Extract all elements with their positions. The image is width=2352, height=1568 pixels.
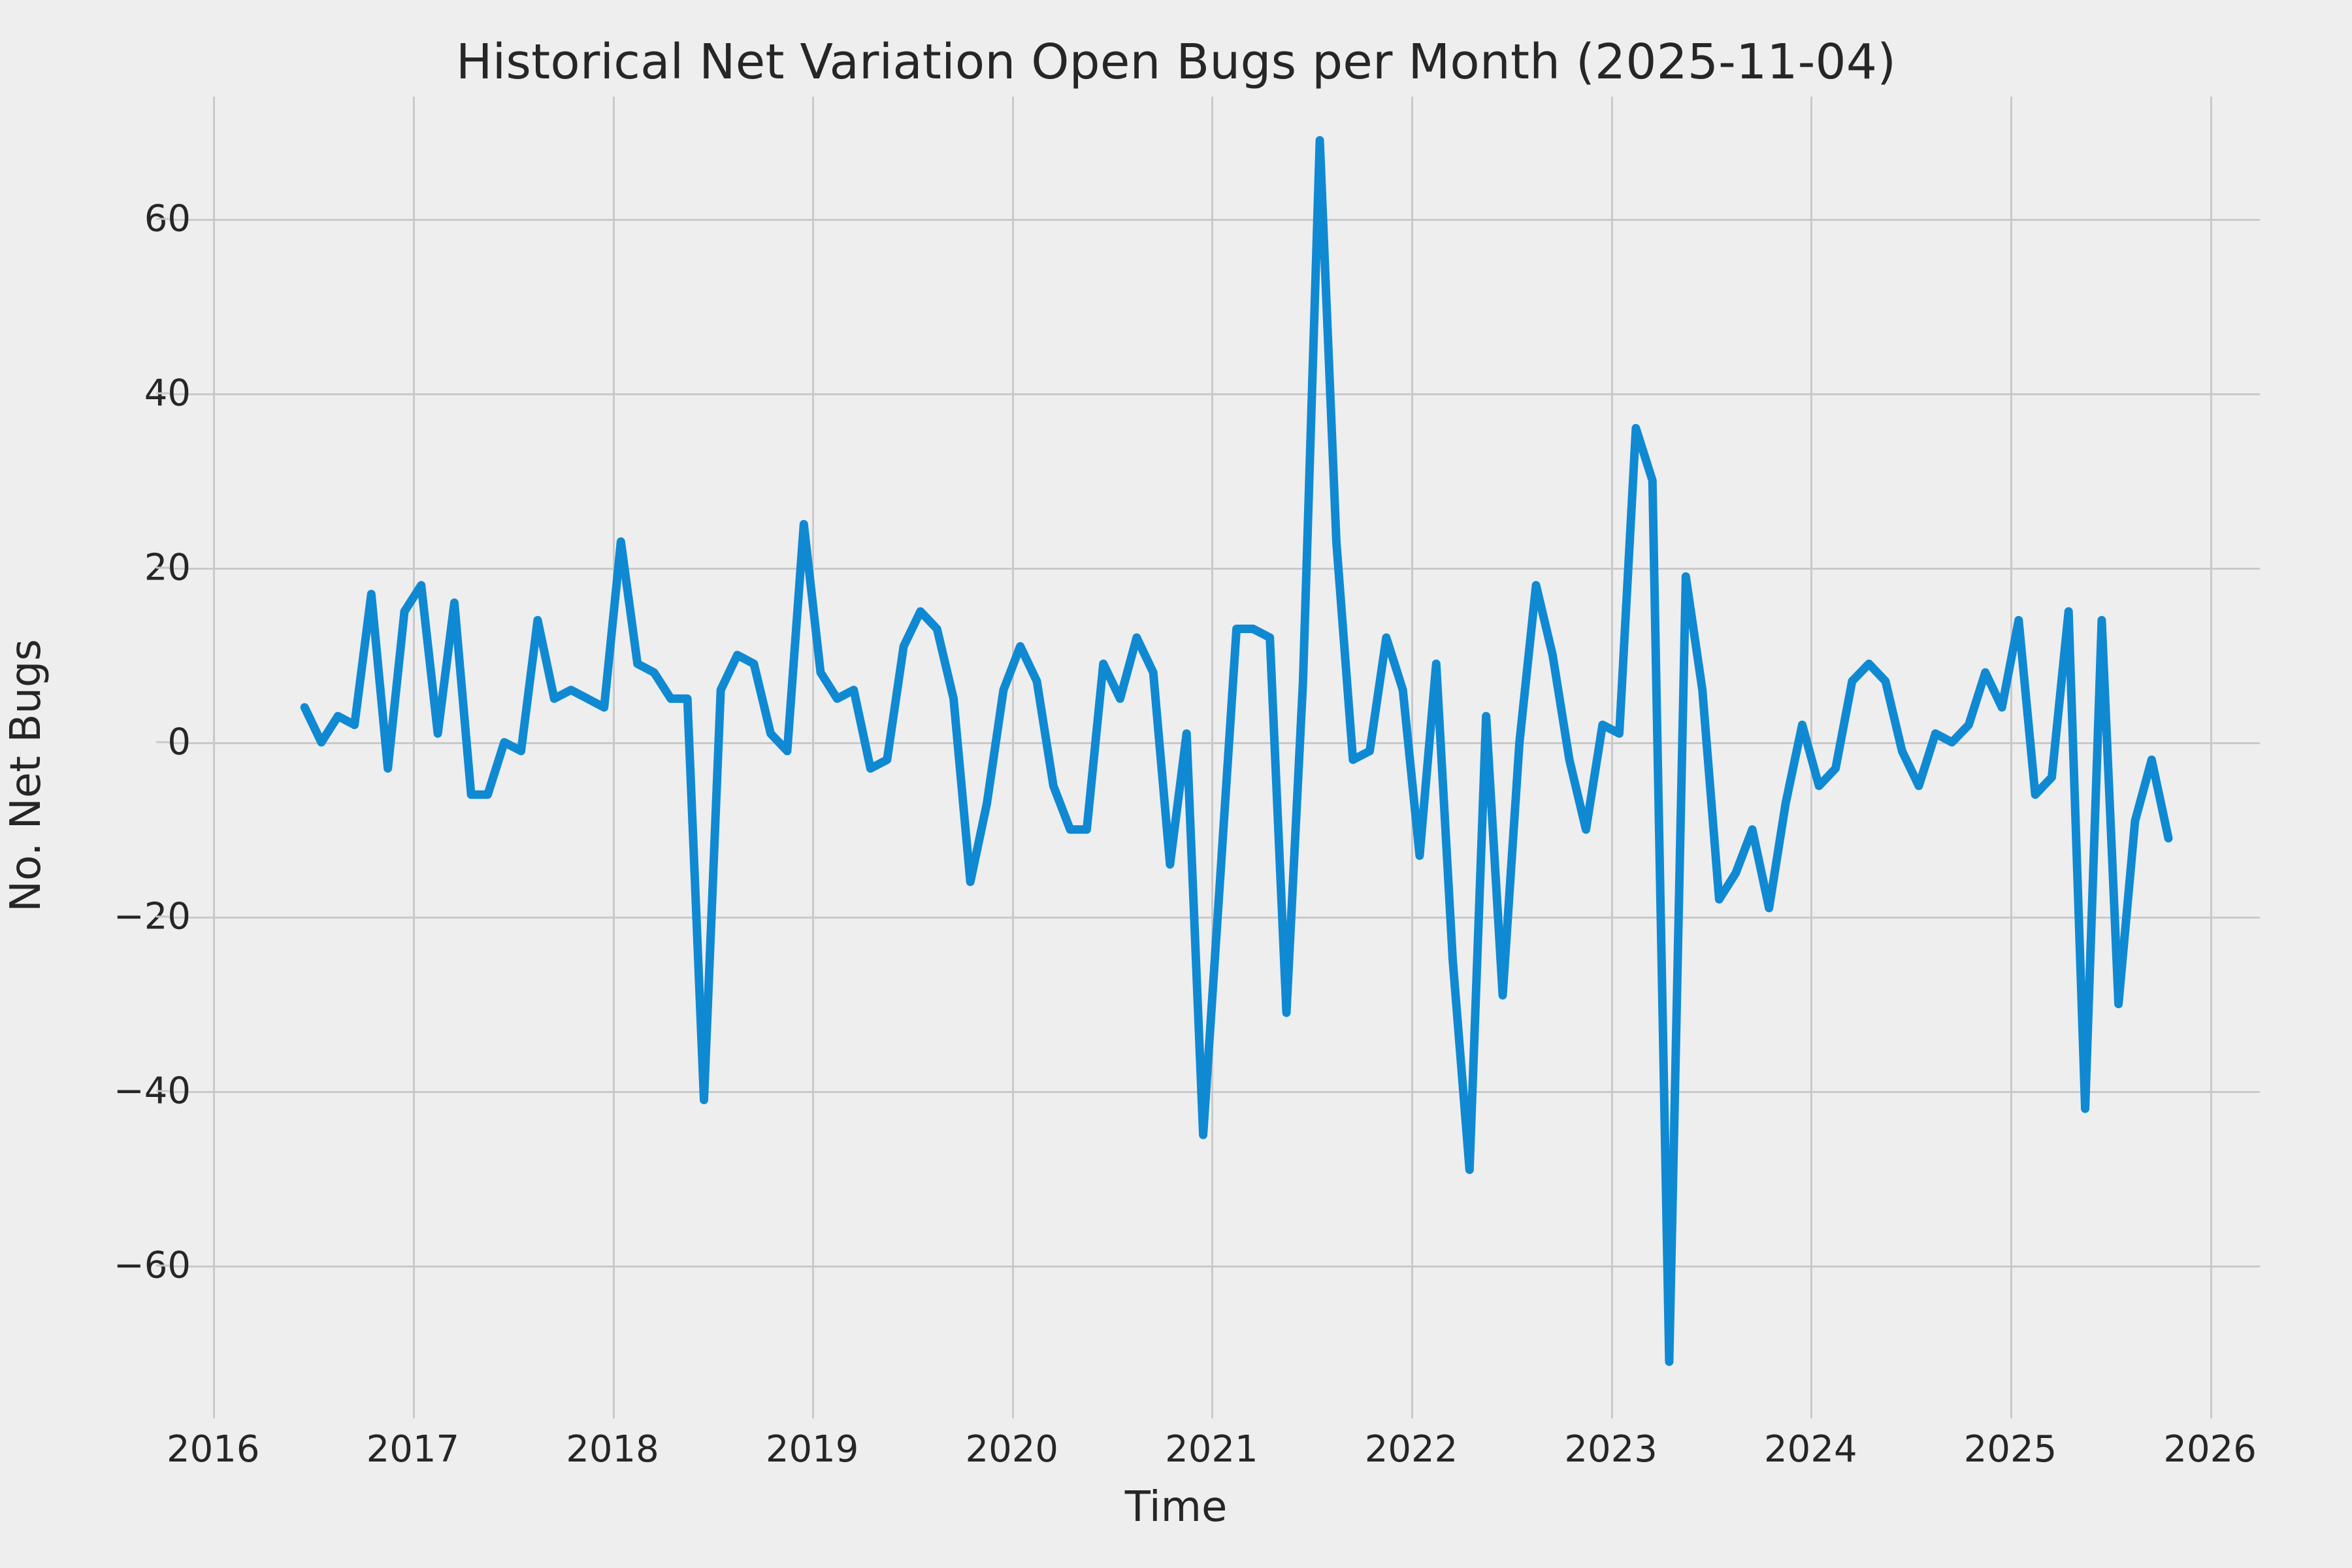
y-tick-mark bbox=[156, 218, 169, 220]
x-tick-label: 2024 bbox=[1764, 1428, 1857, 1471]
x-tick-label: 2022 bbox=[1365, 1428, 1458, 1471]
x-tick-mark bbox=[413, 1405, 415, 1418]
gridline-vertical bbox=[1411, 97, 1413, 1405]
x-tick-mark bbox=[213, 1405, 215, 1418]
x-axis-label: Time bbox=[0, 1483, 2352, 1531]
gridline-horizontal bbox=[169, 917, 2260, 919]
gridline-horizontal bbox=[169, 1266, 2260, 1267]
gridline-vertical bbox=[413, 97, 415, 1405]
gridline-vertical bbox=[213, 97, 215, 1405]
y-tick-mark bbox=[156, 916, 169, 918]
x-tick-label: 2017 bbox=[367, 1428, 460, 1471]
gridline-horizontal bbox=[169, 568, 2260, 570]
plot-area bbox=[169, 97, 2260, 1405]
x-tick-mark bbox=[1411, 1405, 1413, 1418]
y-tick-mark bbox=[156, 1265, 169, 1267]
gridline-vertical bbox=[2210, 97, 2212, 1405]
x-tick-label: 2020 bbox=[966, 1428, 1059, 1471]
gridline-horizontal bbox=[169, 1091, 2260, 1093]
gridline-horizontal bbox=[169, 219, 2260, 221]
y-tick-mark bbox=[156, 1090, 169, 1092]
y-tick-mark bbox=[156, 742, 169, 743]
gridline-vertical bbox=[1611, 97, 1613, 1405]
x-tick-mark bbox=[1012, 1405, 1014, 1418]
gridline-vertical bbox=[2010, 97, 2012, 1405]
x-tick-label: 2016 bbox=[167, 1428, 260, 1471]
x-tick-label: 2025 bbox=[1964, 1428, 2057, 1471]
gridline-horizontal bbox=[169, 742, 2260, 744]
chart-title: Historical Net Variation Open Bugs per M… bbox=[0, 34, 2352, 90]
chart-figure: Historical Net Variation Open Bugs per M… bbox=[0, 0, 2352, 1568]
x-tick-label: 2021 bbox=[1165, 1428, 1258, 1471]
gridline-vertical bbox=[1211, 97, 1213, 1405]
y-tick-mark bbox=[156, 393, 169, 395]
gridline-vertical bbox=[613, 97, 615, 1405]
x-tick-label: 2023 bbox=[1564, 1428, 1658, 1471]
x-tick-label: 2018 bbox=[566, 1428, 659, 1471]
y-axis-label: No. Net Bugs bbox=[2, 318, 50, 1233]
x-tick-label: 2019 bbox=[766, 1428, 859, 1471]
x-tick-mark bbox=[2010, 1405, 2012, 1418]
x-tick-mark bbox=[1211, 1405, 1213, 1418]
gridline-horizontal bbox=[169, 393, 2260, 395]
x-tick-mark bbox=[812, 1405, 814, 1418]
x-tick-mark bbox=[1810, 1405, 1812, 1418]
x-tick-label: 2026 bbox=[2163, 1428, 2257, 1471]
gridline-vertical bbox=[1810, 97, 1812, 1405]
gridline-vertical bbox=[812, 97, 814, 1405]
x-tick-mark bbox=[2210, 1405, 2212, 1418]
gridline-vertical bbox=[1012, 97, 1014, 1405]
y-tick-mark bbox=[156, 567, 169, 569]
x-tick-mark bbox=[1611, 1405, 1613, 1418]
x-tick-mark bbox=[613, 1405, 615, 1418]
